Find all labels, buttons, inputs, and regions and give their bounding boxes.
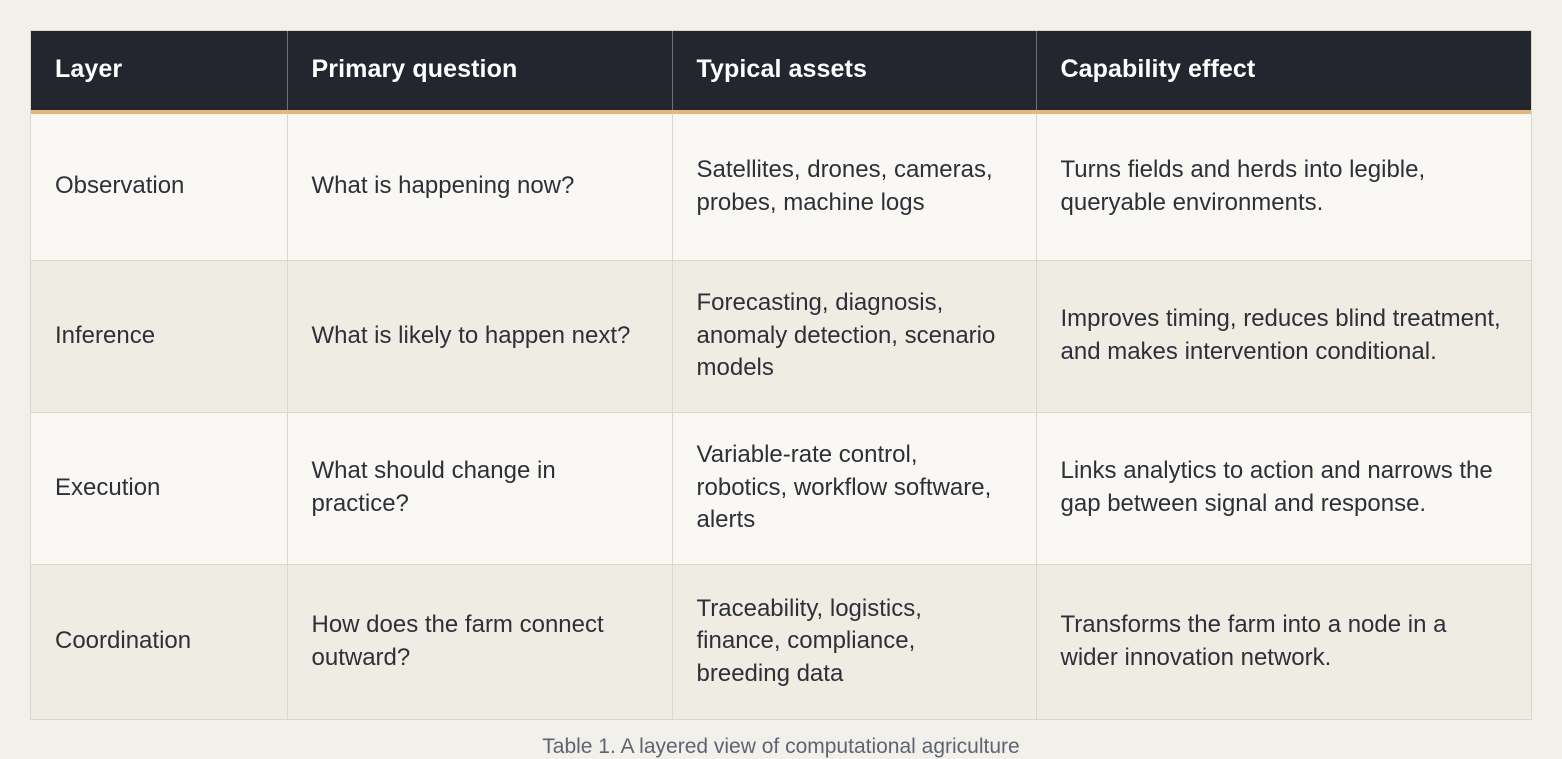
cell-effect: Improves timing, reduces blind treatment… [1036,260,1531,412]
cell-question: What is happening now? [287,112,672,260]
table-body: Observation What is happening now? Satel… [31,112,1531,719]
table-row: Coordination How does the farm connect o… [31,564,1531,719]
column-header-layer: Layer [31,31,287,112]
table-caption: Table 1. A layered view of computational… [30,735,1532,759]
table-header-row: Layer Primary question Typical assets Ca… [31,31,1531,112]
cell-assets: Forecasting, diagnosis, anomaly detectio… [672,260,1036,412]
column-header-typical-assets: Typical assets [672,31,1036,112]
cell-question: What is likely to happen next? [287,260,672,412]
page-root: Layer Primary question Typical assets Ca… [0,0,1562,752]
cell-effect: Turns fields and herds into legible, que… [1036,112,1531,260]
cell-layer: Execution [31,412,287,564]
cell-assets: Satellites, drones, cameras, probes, mac… [672,112,1036,260]
cell-question: How does the farm connect outward? [287,564,672,719]
layer-table-container: Layer Primary question Typical assets Ca… [30,30,1532,720]
cell-effect: Links analytics to action and narrows th… [1036,412,1531,564]
cell-layer: Observation [31,112,287,260]
layer-table: Layer Primary question Typical assets Ca… [31,31,1531,719]
cell-question: What should change in practice? [287,412,672,564]
cell-layer: Coordination [31,564,287,719]
column-header-primary-question: Primary question [287,31,672,112]
table-row: Inference What is likely to happen next?… [31,260,1531,412]
cell-assets: Traceability, logistics, finance, compli… [672,564,1036,719]
column-header-capability-effect: Capability effect [1036,31,1531,112]
table-header: Layer Primary question Typical assets Ca… [31,31,1531,112]
cell-effect: Transforms the farm into a node in a wid… [1036,564,1531,719]
cell-layer: Inference [31,260,287,412]
cell-assets: Variable-rate control, robotics, workflo… [672,412,1036,564]
table-row: Observation What is happening now? Satel… [31,112,1531,260]
table-row: Execution What should change in practice… [31,412,1531,564]
